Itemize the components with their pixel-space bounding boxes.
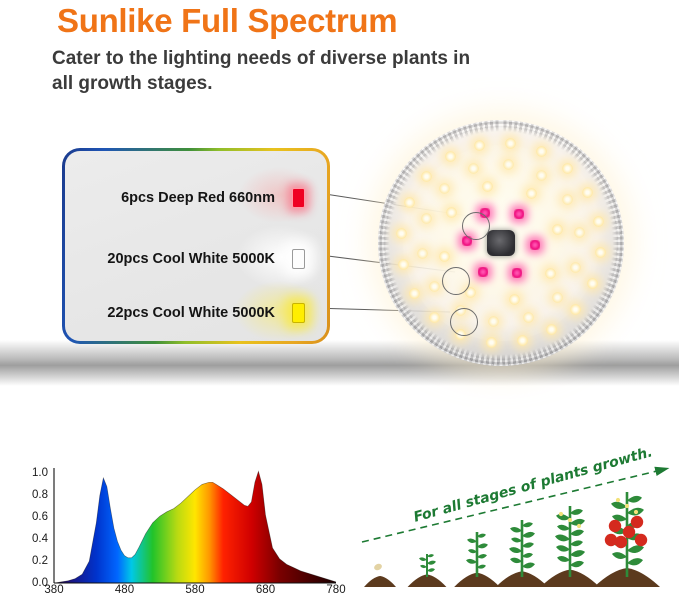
led-grow-light-bulb — [378, 120, 624, 366]
white-led — [517, 335, 528, 346]
bulb-driver-module — [487, 230, 515, 256]
white-led — [488, 316, 499, 327]
leaf — [570, 550, 585, 557]
yellow-led-chip-icon — [292, 303, 305, 323]
leaf — [570, 509, 583, 515]
leaf — [467, 539, 477, 544]
leaf — [556, 545, 570, 551]
white-led — [587, 278, 598, 289]
white-led — [536, 146, 547, 157]
deep-red-led — [478, 267, 488, 277]
leaf — [511, 538, 522, 543]
legend-label-cool-white-20: 20pcs Cool White 5000K — [107, 251, 275, 267]
chart-x-tick: 480 — [115, 584, 134, 596]
leaf — [427, 568, 435, 572]
leaf — [612, 552, 627, 559]
leaf — [555, 535, 570, 542]
deep-red-led — [530, 240, 540, 250]
white-led — [523, 312, 534, 323]
leaf — [510, 527, 522, 532]
header-section: Sunlike Full Spectrum Cater to the light… — [0, 0, 679, 115]
leaf — [570, 561, 584, 567]
tomato-fruit — [635, 534, 647, 546]
hero-section: 6pcs Deep Red 660nm 20pcs Cool White 500… — [0, 112, 679, 412]
flower — [625, 504, 629, 508]
white-led — [396, 228, 407, 239]
white-led — [503, 159, 514, 170]
soil-mound — [364, 576, 396, 587]
leaf — [570, 540, 583, 546]
chart-x-tick: 580 — [185, 584, 204, 596]
leaf — [522, 522, 533, 527]
deep-red-led — [512, 268, 522, 278]
plant-stage-group — [364, 492, 660, 587]
chart-x-tick: 680 — [256, 584, 275, 596]
white-led — [421, 213, 432, 224]
chart-y-tick: 0.8 — [32, 489, 48, 501]
leaf — [466, 559, 477, 564]
leaf — [557, 525, 570, 531]
plant-stage-flowering — [540, 506, 599, 587]
chart-axes — [54, 468, 336, 583]
leaf — [427, 554, 434, 557]
led-legend-inner: 6pcs Deep Red 660nm 20pcs Cool White 500… — [65, 151, 327, 341]
flower — [634, 510, 638, 514]
white-led — [526, 188, 537, 199]
flower — [577, 524, 581, 528]
chart-x-tick: 780 — [326, 584, 345, 596]
chart-y-tick: 0.4 — [32, 533, 48, 545]
led-legend-card: 6pcs Deep Red 660nm 20pcs Cool White 500… — [62, 148, 330, 344]
chart-x-tick: 380 — [44, 584, 63, 596]
marker-circle-white-led — [442, 267, 470, 295]
white-led — [474, 140, 485, 151]
white-led — [582, 187, 593, 198]
white-led — [562, 194, 573, 205]
flower — [568, 518, 572, 522]
tomato-fruit — [605, 534, 617, 546]
spectrum-chart: 0.00.20.40.60.81.0 380480580680780 — [14, 458, 344, 604]
marker-circle-red-led — [462, 212, 490, 240]
tomato-fruit — [623, 526, 635, 538]
leaf — [522, 532, 535, 538]
white-led — [409, 288, 420, 299]
white-led — [486, 337, 497, 348]
seed — [373, 563, 383, 572]
leaf — [611, 502, 627, 509]
leaf — [556, 514, 570, 520]
white-led-chip-icon — [292, 249, 305, 269]
growth-illustration — [352, 452, 679, 606]
leaf — [627, 545, 644, 553]
chart-y-axis-labels: 0.00.20.40.60.81.0 — [14, 458, 48, 604]
bottom-section: 0.00.20.40.60.81.0 380480580680780 — [0, 452, 679, 606]
leaf — [477, 554, 487, 559]
white-led — [552, 224, 563, 235]
legend-row-cool-white-22: 22pcs Cool White 5000K — [65, 298, 327, 328]
leaf — [420, 565, 427, 568]
leaf — [522, 553, 533, 558]
plant-stage-sprout — [408, 554, 447, 587]
tomato-fruit — [609, 520, 621, 532]
legend-row-deep-red: 6pcs Deep Red 660nm — [65, 183, 327, 213]
plant-stage-seedling — [454, 532, 500, 587]
white-led — [417, 248, 428, 259]
chart-y-tick: 0.2 — [32, 555, 48, 567]
white-led — [439, 183, 450, 194]
marker-circle-warm-led — [450, 308, 478, 336]
white-led — [545, 268, 556, 279]
plant-stage-fruiting — [594, 492, 660, 587]
leaf — [477, 534, 486, 538]
leaf — [627, 496, 642, 503]
leaf — [468, 549, 477, 553]
flower — [559, 512, 563, 516]
tomato-fruit — [631, 516, 643, 528]
legend-label-cool-white-22: 22pcs Cool White 5000K — [107, 305, 275, 321]
leaf — [419, 557, 427, 561]
page-subtitle: Cater to the lighting needs of diverse p… — [52, 46, 472, 96]
red-led-chip-icon — [292, 188, 305, 208]
white-led — [562, 163, 573, 174]
flower — [616, 498, 620, 502]
leaf — [570, 530, 584, 536]
plant-stage-seed — [364, 563, 396, 587]
legend-label-deep-red: 6pcs Deep Red 660nm — [121, 190, 275, 206]
white-led — [429, 312, 440, 323]
leaf — [627, 558, 643, 565]
white-led — [421, 171, 432, 182]
white-led — [509, 294, 520, 305]
leaf — [522, 542, 534, 547]
legend-row-cool-white-20: 20pcs Cool White 5000K — [65, 244, 327, 274]
leaf — [427, 561, 436, 565]
leaf — [477, 543, 488, 548]
leaf — [509, 547, 522, 553]
deep-red-led — [514, 209, 524, 219]
plant-growth-stages: For all stages of plants growth. — [352, 452, 679, 606]
leaf — [522, 562, 535, 568]
chart-y-tick: 1.0 — [32, 467, 48, 479]
white-led — [398, 259, 409, 270]
white-led — [482, 181, 493, 192]
white-led — [429, 281, 440, 292]
leaf — [477, 565, 486, 569]
leaf — [557, 556, 570, 562]
page-title: Sunlike Full Spectrum — [57, 2, 397, 40]
leaf — [510, 558, 522, 563]
chart-plot-area — [54, 468, 336, 583]
plant-stage-young-plant — [496, 520, 548, 587]
chart-x-axis-labels: 380480580680780 — [48, 584, 344, 602]
chart-y-tick: 0.6 — [32, 511, 48, 523]
white-led — [546, 324, 557, 335]
